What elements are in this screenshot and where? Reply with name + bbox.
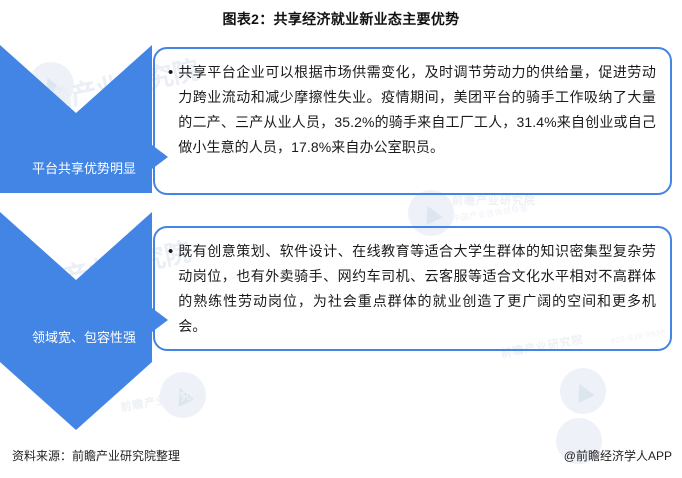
watermark-logo-triangle	[571, 379, 594, 402]
watermark-logo-triangle	[171, 383, 194, 406]
page-title: 图表2：共享经济就业新业态主要优势	[0, 9, 682, 29]
infographic-canvas: 前瞻产业研究院 400-639-9936 前瞻产业研究院 400-639-993…	[0, 0, 682, 478]
chevron-label-text: 平台共享优势明显	[20, 158, 148, 193]
watermark-brand-text: 前瞻产业研究院	[119, 385, 205, 415]
bullet-icon: •	[168, 60, 173, 183]
bullet-icon: •	[168, 239, 173, 339]
content-box-inner: • 共享平台企业可以根据市场供需变化，及时调节劳动力的供给量，促进劳动力跨业流动…	[155, 49, 670, 193]
content-box-text: 既有创意策划、软件设计、在线教育等适合大学生群体的知识密集型复杂劳动岗位，也有外…	[178, 239, 656, 339]
chevron-tail-shape	[0, 362, 152, 432]
watermark-logo-icon	[560, 368, 606, 414]
watermark-sub-text: 中国产业咨询领导者	[452, 203, 529, 225]
content-box-text: 共享平台企业可以根据市场供需变化，及时调节劳动力的供给量，促进劳动力跨业流动和减…	[178, 60, 656, 183]
brand-note: @前瞻经济学人APP	[564, 447, 672, 464]
watermark-logo-icon	[160, 372, 206, 418]
content-box-platform-advantage: • 共享平台企业可以根据市场供需变化，及时调节劳动力的供给量，促进劳动力跨业流动…	[153, 47, 672, 195]
chevron-label-platform-advantage: 平台共享优势明显	[0, 45, 168, 193]
chevron-label-broad-inclusive: 领域宽、包容性强	[0, 212, 168, 362]
content-box-broad-inclusive: • 既有创意策划、软件设计、在线教育等适合大学生群体的知识密集型复杂劳动岗位，也…	[153, 226, 672, 351]
watermark-logo-triangle	[419, 201, 442, 224]
source-note: 资料来源：前瞻产业研究院整理	[12, 447, 180, 464]
chevron-label-text: 领域宽、包容性强	[20, 327, 148, 362]
content-box-inner: • 既有创意策划、软件设计、在线教育等适合大学生群体的知识密集型复杂劳动岗位，也…	[155, 228, 670, 349]
